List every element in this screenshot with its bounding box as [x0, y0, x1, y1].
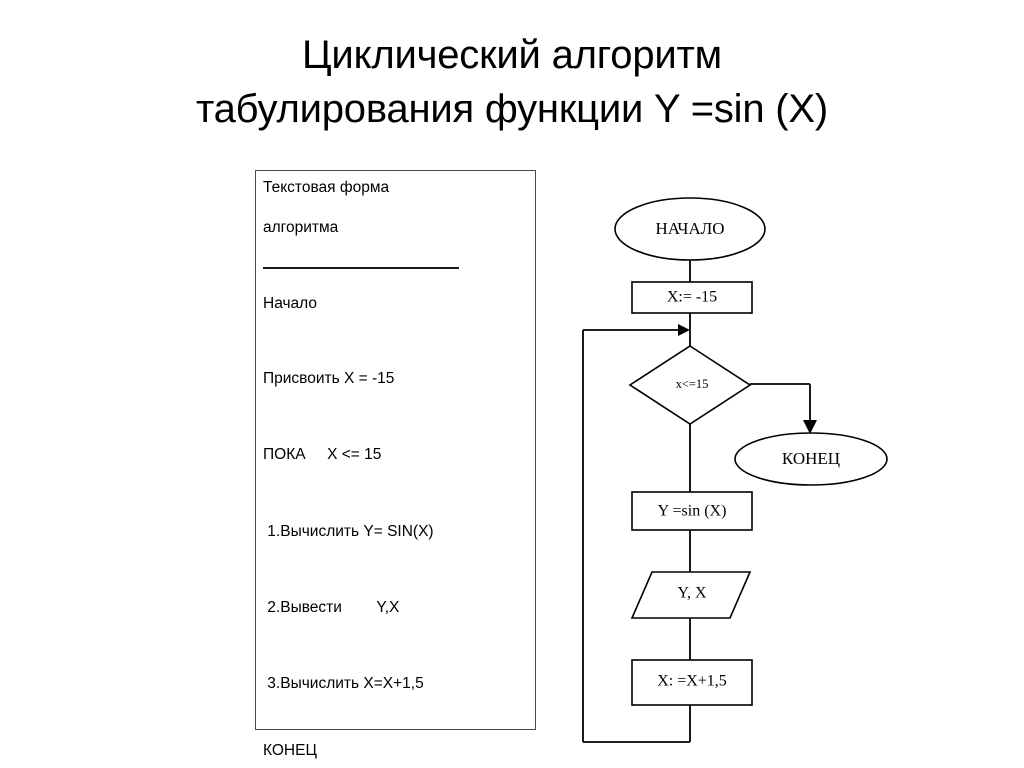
flowchart-node-output-label: Y, X [677, 585, 706, 602]
flowchart-diagram: НАЧАЛО X:= -15 x<=15 КОНЕЦ Y =sin (X) Y,… [0, 0, 1024, 768]
flowchart-node-increment-label: X: =X+1,5 [657, 673, 727, 690]
flowchart-node-compute-y-label: Y =sin (X) [658, 503, 727, 520]
arrowhead-loopback-into-trunk [678, 324, 690, 336]
flowchart-node-end-label: КОНЕЦ [782, 449, 840, 468]
flowchart-node-start-label: НАЧАЛО [655, 219, 724, 238]
flowchart-node-condition-label: x<=15 [676, 377, 709, 391]
slide-canvas: Циклический алгоритм табулирования функц… [0, 0, 1024, 768]
flowchart-node-init-label: X:= -15 [667, 289, 717, 306]
arrowhead-condition-to-end [803, 420, 817, 434]
